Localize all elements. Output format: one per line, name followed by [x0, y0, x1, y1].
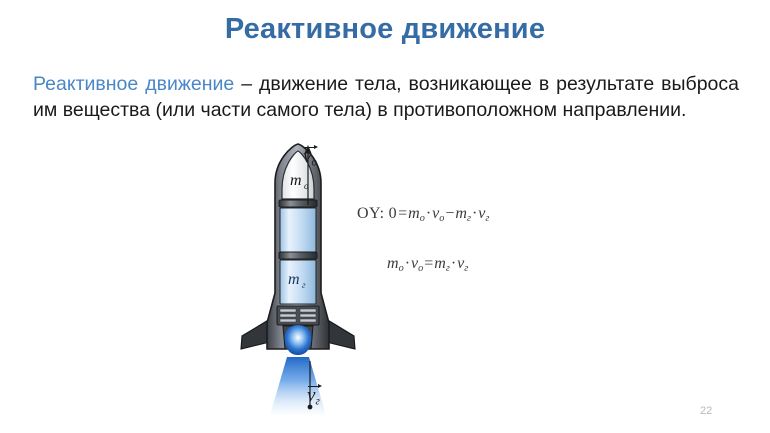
- rocket-diagram: m о m г: [228, 143, 368, 418]
- formula1-zero: 0: [389, 205, 398, 222]
- vector-overbar-head-o: [314, 145, 318, 149]
- vector-overbar-head-g: [318, 384, 322, 388]
- formula2-m-o: m: [387, 255, 399, 272]
- nozzle-glow: [285, 325, 312, 355]
- fin-right: [326, 319, 355, 349]
- formula2-dot-1: ·: [404, 255, 411, 272]
- page-title: Реактивное движение: [0, 13, 770, 46]
- fin-left: [241, 319, 270, 349]
- formula2-m-o-sub: о: [399, 263, 404, 274]
- vector-label-v-o: vо: [303, 146, 317, 168]
- formula1-minus: −: [444, 205, 455, 222]
- fuel-mass-sub: г: [302, 280, 306, 290]
- vector-symbol-o: v: [303, 146, 311, 167]
- formula-momentum-equality: mо·vо=mг·vг: [387, 255, 468, 274]
- vector-sub-o: о: [311, 156, 317, 168]
- formula1-equals: =: [397, 205, 408, 222]
- fuel-tank-upper: [280, 208, 316, 252]
- formula1-v-g-sub: г: [485, 213, 489, 224]
- formula2-m-g: m: [434, 255, 446, 272]
- vector-symbol-g: v: [307, 385, 315, 406]
- vector-label-v-g: vг: [307, 385, 320, 407]
- fuel-mass-label: m: [288, 271, 300, 288]
- page-number: 22: [700, 405, 712, 417]
- hull-band-middle: [279, 252, 317, 259]
- slide-canvas: Реактивное движение Реактивное движение …: [0, 0, 770, 433]
- nose-mass-label: m: [290, 172, 302, 189]
- formula2-v-g-sub: г: [464, 263, 468, 274]
- definition-term: Реактивное движение: [33, 73, 234, 95]
- hull-band-upper: [279, 200, 317, 207]
- definition-paragraph: Реактивное движение – движение тела, воз…: [33, 71, 739, 123]
- vector-sub-g: г: [315, 395, 319, 407]
- formula2-equals: =: [423, 255, 434, 272]
- formula1-m-g: m: [455, 205, 467, 222]
- formula1-m-o: m: [408, 205, 420, 222]
- formula-oy-momentum: OY: 0=mо·vо−mг·vг: [357, 205, 489, 224]
